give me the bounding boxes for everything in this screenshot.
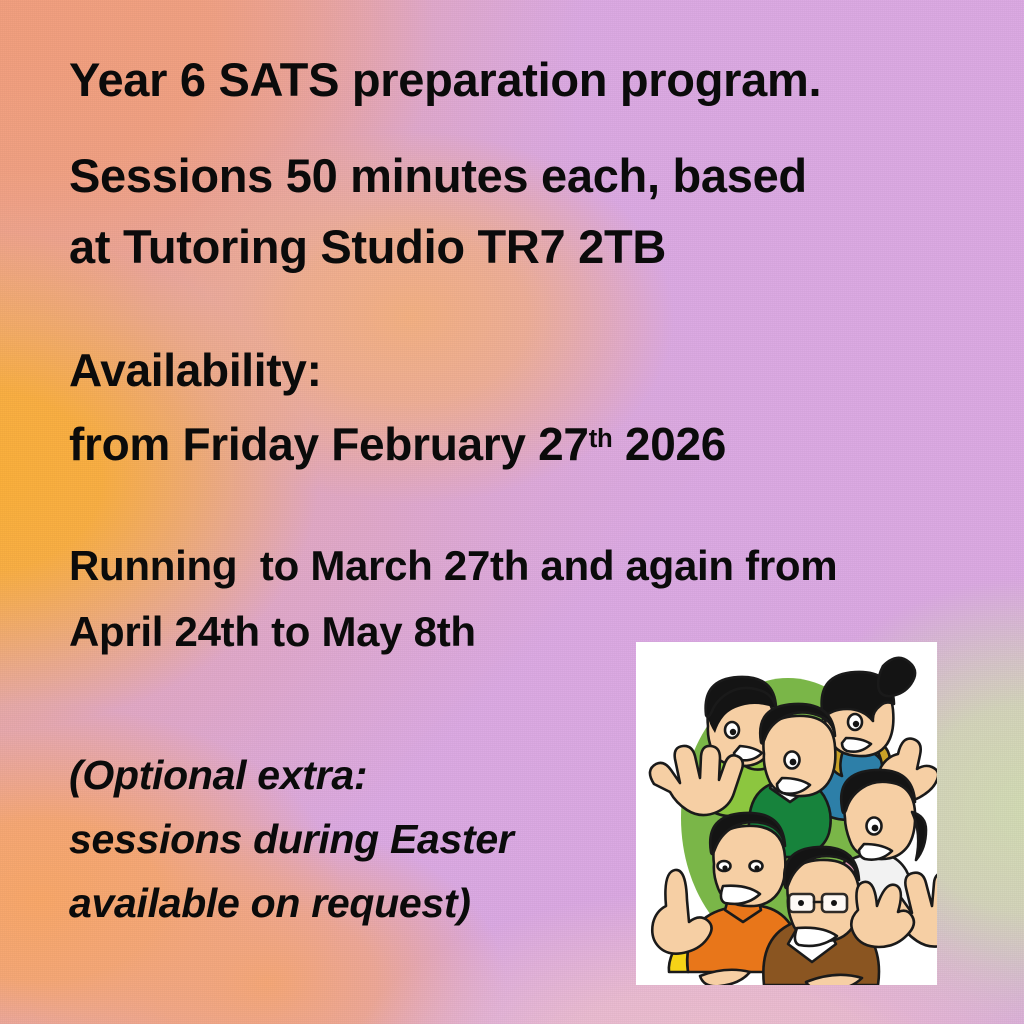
sessions-block: Sessions 50 minutes each, based at Tutor… (69, 140, 979, 282)
sessions-line-1: Sessions 50 minutes each, based (69, 140, 979, 211)
availability-label: Availability: (69, 333, 979, 407)
optional-line-3: available on request) (69, 871, 669, 935)
running-line-1: Running to March 27th and again from (69, 533, 979, 599)
children-illustration-card (636, 642, 937, 985)
page-title: Year 6 SATS preparation program. (69, 49, 979, 111)
title-block: Year 6 SATS preparation program. (69, 49, 979, 111)
availability-block: Availability: from Friday February 27th … (69, 333, 979, 489)
poster-canvas: Year 6 SATS preparation program. Session… (0, 0, 1024, 1024)
optional-line-2: sessions during Easter (69, 807, 669, 871)
availability-date-ordinal: th (589, 425, 613, 453)
availability-date-suffix: 2026 (612, 418, 726, 470)
sessions-line-2: at Tutoring Studio TR7 2TB (69, 211, 979, 282)
availability-date: from Friday February 27th 2026 (69, 407, 979, 489)
children-illustration (636, 642, 937, 985)
optional-extra-block: (Optional extra: sessions during Easter … (69, 743, 669, 935)
optional-line-1: (Optional extra: (69, 743, 669, 807)
availability-date-prefix: from Friday February 27 (69, 418, 589, 470)
